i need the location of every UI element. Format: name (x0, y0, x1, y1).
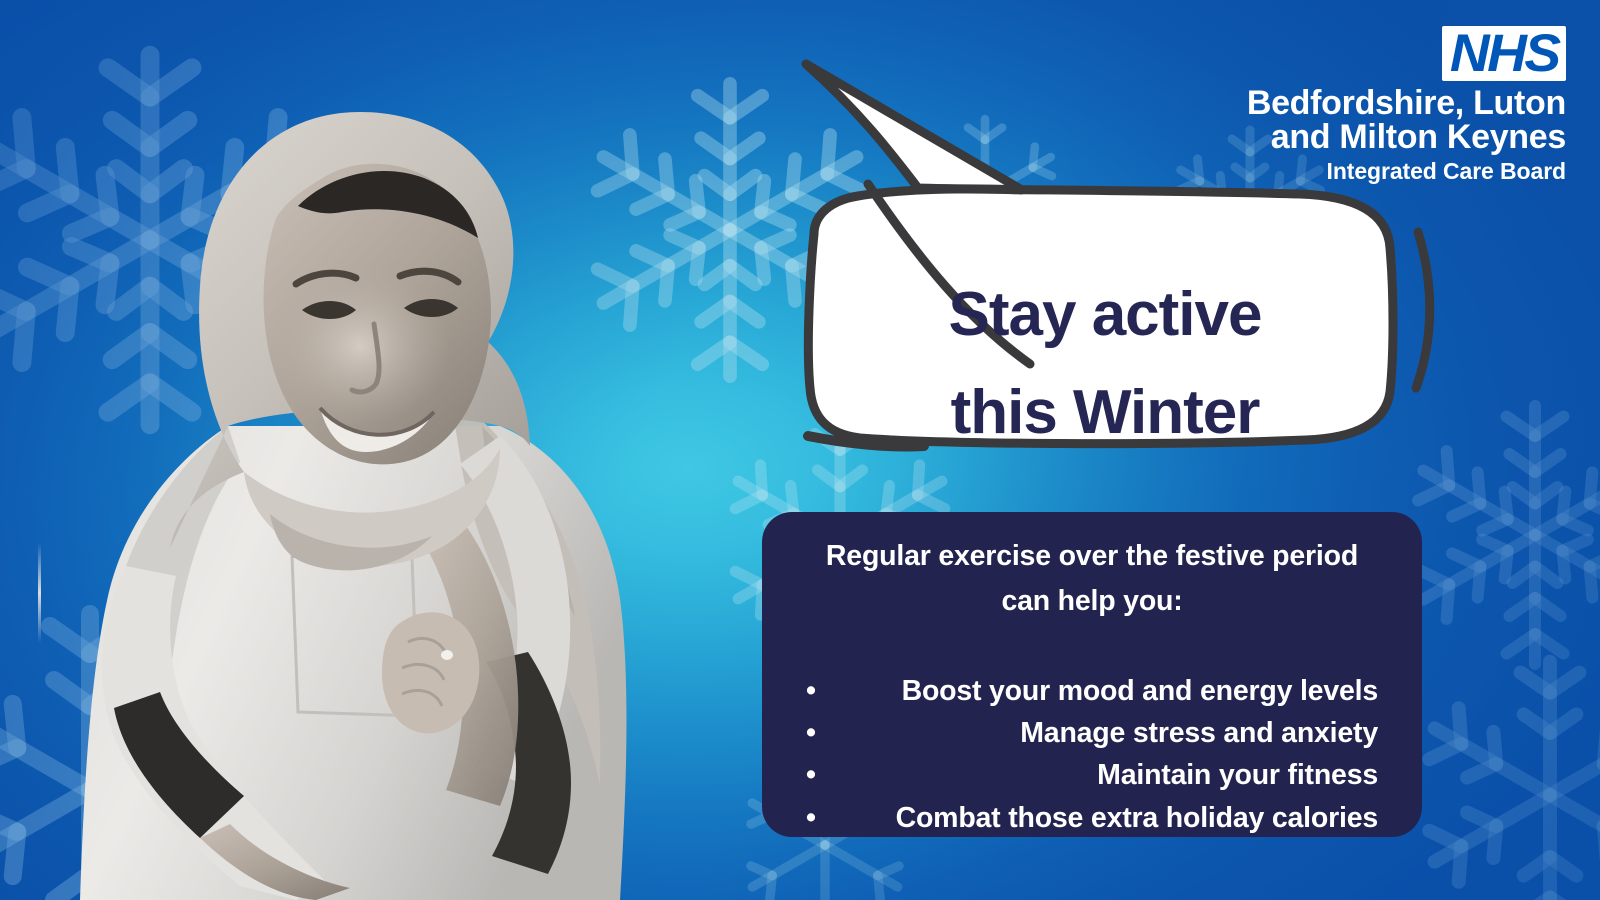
list-item-label: Boost your mood and energy levels (902, 675, 1378, 707)
speech-bubble: Stay active this Winter (740, 48, 1470, 468)
list-item: • Boost your mood and energy levels (792, 670, 1392, 712)
list-item: • Combat those extra holiday calories (792, 797, 1392, 839)
bullet-icon: • (806, 712, 816, 754)
benefits-heading-line-2: can help you: (792, 579, 1392, 624)
list-item: • Maintain your fitness (792, 754, 1392, 796)
benefits-heading-line-1: Regular exercise over the festive period (792, 534, 1392, 579)
list-item-label: Maintain your fitness (1097, 759, 1378, 791)
bullet-icon: • (806, 797, 816, 839)
benefits-heading: Regular exercise over the festive period… (792, 534, 1392, 624)
list-item-label: Manage stress and anxiety (1020, 717, 1378, 749)
bullet-icon: • (806, 754, 816, 796)
bubble-headline-line-1: Stay active (949, 280, 1262, 349)
list-item: • Manage stress and anxiety (792, 712, 1392, 754)
bubble-headline: Stay active this Winter (800, 266, 1410, 462)
photo-woman-jogging (30, 96, 740, 900)
bubble-headline-line-2: this Winter (800, 364, 1410, 462)
benefits-list: • Boost your mood and energy levels • Ma… (792, 670, 1392, 839)
photo-edge-artifact (38, 543, 41, 643)
speech-bubble-right-accent (1416, 232, 1430, 388)
bullet-icon: • (806, 670, 816, 712)
list-item-label: Combat those extra holiday calories (896, 802, 1378, 834)
benefits-card: Regular exercise over the festive period… (762, 512, 1422, 837)
winter-health-poster: NHS Bedfordshire, Luton and Milton Keyne… (0, 0, 1600, 900)
